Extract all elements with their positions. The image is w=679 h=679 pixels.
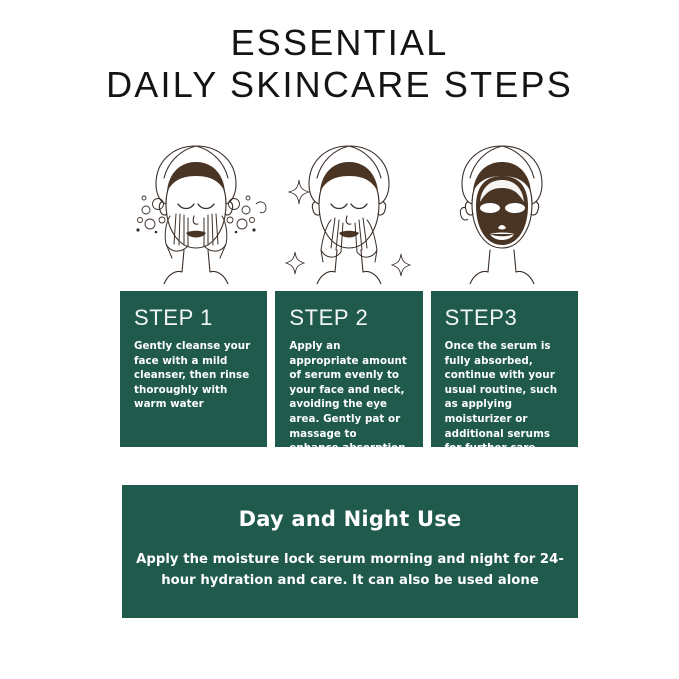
step-card-1: STEP 1 Gently cleanse your face with a m… (120, 291, 267, 447)
step-cards-row: STEP 1 Gently cleanse your face with a m… (120, 291, 578, 447)
step-3-heading: STEP3 (445, 307, 564, 329)
step-2-heading: STEP 2 (289, 307, 408, 329)
banner-title: Day and Night Use (122, 507, 578, 531)
illustration-sheet-mask (426, 132, 578, 284)
banner-text: Apply the moisture lock serum morning an… (122, 549, 578, 592)
illustration-applying-serum (273, 132, 425, 284)
step-2-body: Apply an appropriate amount of serum eve… (289, 339, 408, 447)
step-3-body: Once the serum is fully absorbed, contin… (445, 339, 564, 447)
title-line-secondary: DAILY SKINCARE STEPS (0, 64, 679, 106)
page-title: ESSENTIAL DAILY SKINCARE STEPS (0, 22, 679, 107)
illustration-washing-face (120, 132, 272, 284)
title-line-primary: ESSENTIAL (0, 22, 679, 64)
step-card-2: STEP 2 Apply an appropriate amount of se… (275, 291, 422, 447)
step-card-3: STEP3 Once the serum is fully absorbed, … (431, 291, 578, 447)
skincare-infographic: { "header": { "title_line_1": "ESSENTIAL… (0, 0, 679, 679)
illustration-row (120, 132, 578, 284)
day-night-banner: Day and Night Use Apply the moisture loc… (122, 485, 578, 618)
step-1-heading: STEP 1 (134, 307, 253, 329)
step-1-body: Gently cleanse your face with a mild cle… (134, 339, 253, 412)
